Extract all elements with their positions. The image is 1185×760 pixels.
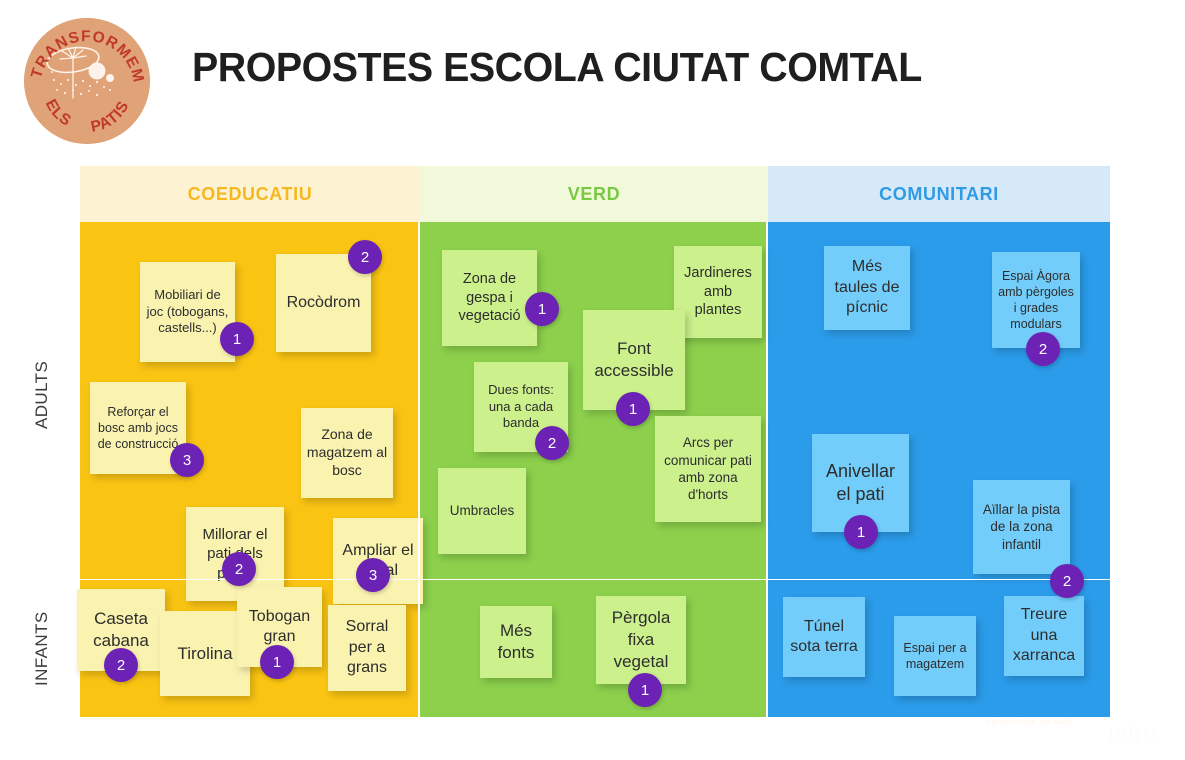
proposals-matrix: COEDUCATIU VERD COMUNITARI Mobiliari de … [80, 166, 1110, 718]
cell-coeducatiu-adults: Mobiliari de joc (tobogans, castells...)… [80, 222, 420, 579]
row-label-adults: ADULTS [32, 340, 52, 450]
priority-badge: 2 [348, 240, 382, 274]
cell-comunitari-infants: Túnel sota terra Espai per a magatzem Tr… [768, 580, 1110, 717]
priority-badge: 3 [170, 443, 204, 477]
row-label-infants: INFANTS [32, 596, 52, 701]
sticky-note[interactable]: Zona de gespa i vegetació [442, 250, 537, 346]
sticky-note[interactable]: Espai per a magatzem [894, 616, 976, 696]
column-divider [418, 580, 420, 717]
miro-watermark: miro [1108, 719, 1157, 746]
priority-badge: 1 [525, 292, 559, 326]
priority-badge: 2 [535, 426, 569, 460]
cell-verd-infants: Més fonts Pèrgola fixa vegetal 1 [420, 580, 768, 717]
sticky-note[interactable]: Més taules de pícnic [824, 246, 910, 330]
priority-badge: 1 [628, 673, 662, 707]
matrix-row-adults: Mobiliari de joc (tobogans, castells...)… [80, 222, 1110, 579]
priority-badge: 1 [616, 392, 650, 426]
page-title: PROPOSTES ESCOLA CIUTAT COMTAL [192, 44, 922, 91]
priority-badge: 1 [220, 322, 254, 356]
priority-badge: 2 [222, 552, 256, 586]
sticky-note[interactable]: Umbracles [438, 468, 526, 554]
priority-badge: 1 [844, 515, 878, 549]
column-divider [418, 222, 420, 579]
cell-comunitari-adults: Més taules de pícnic Espai Àgora amb pèr… [768, 222, 1110, 579]
sticky-note[interactable]: Túnel sota terra [783, 597, 865, 677]
priority-badge: 3 [356, 558, 390, 592]
priority-badge: 2 [104, 648, 138, 682]
sticky-note[interactable]: Mobiliari de joc (tobogans, castells...) [140, 262, 235, 362]
cell-verd-adults: Zona de gespa i vegetació 1 Jardineres a… [420, 222, 768, 579]
column-divider [766, 580, 768, 717]
sticky-note[interactable]: Més fonts [480, 606, 552, 678]
matrix-header-row: COEDUCATIU VERD COMUNITARI [80, 166, 1110, 222]
priority-badge: 1 [260, 645, 294, 679]
sticky-note[interactable]: Treure una xarranca [1004, 596, 1084, 676]
column-header-comunitari: COMUNITARI [768, 166, 1110, 222]
transformem-els-patis-logo: TRANSFORMEM ELS PATIS [24, 18, 150, 144]
sticky-note[interactable]: Zona de magatzem al bosc [301, 408, 393, 498]
column-divider [766, 222, 768, 579]
priority-badge: 2 [1050, 564, 1084, 598]
sticky-note[interactable]: Sorral per a grans [328, 605, 406, 691]
sticky-note[interactable]: Arcs per comunicar pati amb zona d'horts [655, 416, 761, 522]
brand-watermark: transformem els patis [986, 717, 1073, 726]
sticky-note[interactable]: Aïllar la pista de la zona infantil [973, 480, 1070, 574]
slide-canvas: TRANSFORMEM ELS PATIS PROPOSTES ESCOLA C… [0, 0, 1185, 760]
priority-badge: 2 [1026, 332, 1060, 366]
column-header-coeducatiu: COEDUCATIU [80, 166, 420, 222]
sticky-note[interactable]: Pèrgola fixa vegetal [596, 596, 686, 684]
column-header-verd: VERD [420, 166, 768, 222]
sticky-note[interactable]: Jardineres amb plantes [674, 246, 762, 338]
